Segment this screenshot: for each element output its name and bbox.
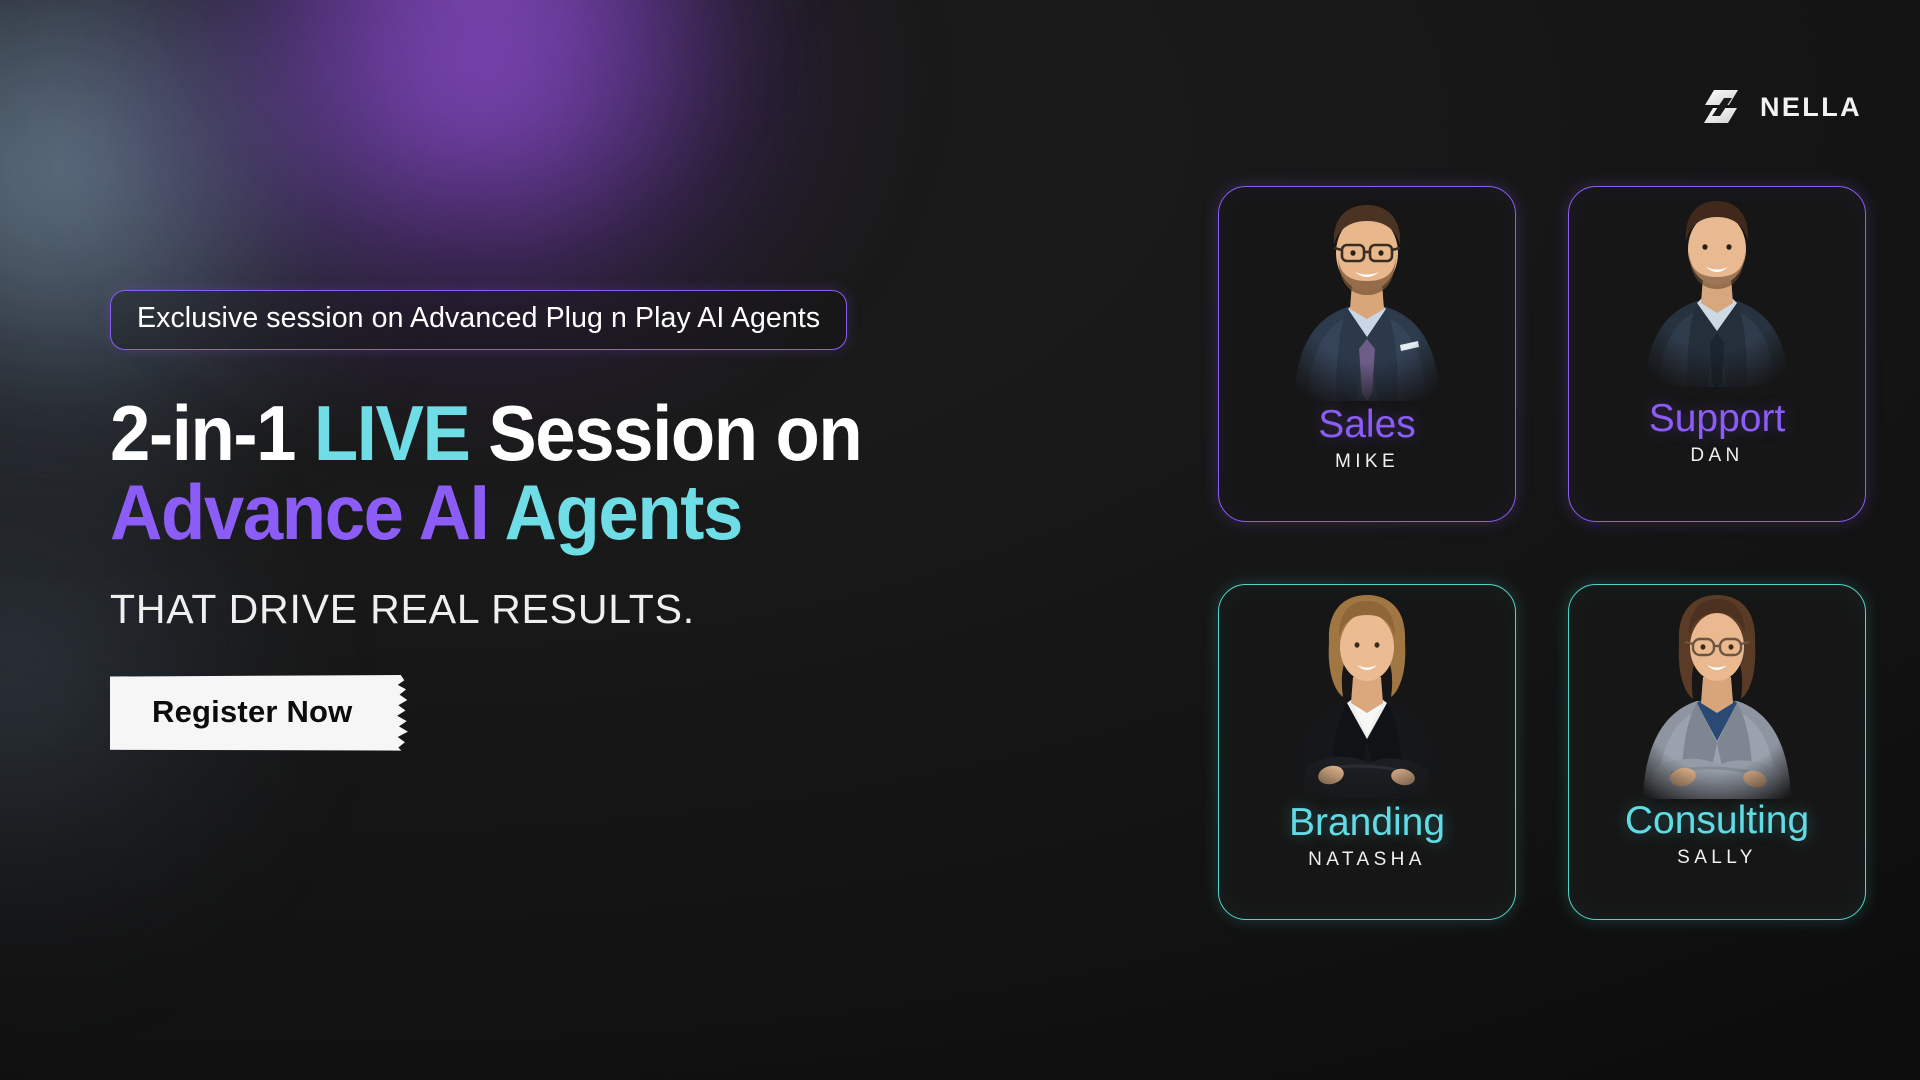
page-title: 2-in-1 LIVE Session on Advance AI Agents [110,394,1003,553]
hero-banner: NELLA Exclusive session on Advanced Plug… [0,0,1920,1080]
nella-bolt-icon [1698,84,1744,130]
headline-text-agents: Agents [488,468,742,556]
agent-person: SALLY [1677,847,1757,869]
avatar [1569,585,1865,799]
headline-line-2: Advance AI Agents [110,473,1003,553]
headline-text-live: LIVE [314,389,470,477]
session-badge: Exclusive session on Advanced Plug n Pla… [110,290,847,350]
agent-role: Sales [1318,405,1416,444]
avatar [1569,187,1865,387]
agent-card-branding[interactable]: Branding NATASHA [1218,584,1516,920]
agent-role: Consulting [1625,801,1809,840]
agent-role: Branding [1289,803,1445,842]
headline-text-session: Session on [470,389,862,477]
avatar-woman-black-blazer-icon [1269,585,1465,799]
headline-line-1: 2-in-1 LIVE Session on [110,394,1003,474]
brand-name: NELLA [1760,92,1862,123]
avatar [1219,187,1515,401]
headline-text-plain: 2-in-1 [110,389,314,477]
brand-logo[interactable]: NELLA [1698,84,1862,130]
cta-container: Register Now [110,675,1070,751]
agent-card-sales[interactable]: Sales MIKE [1218,186,1516,522]
avatar-man-glasses-suit-icon [1272,187,1462,401]
register-now-button[interactable]: Register Now [110,675,409,751]
agent-card-support[interactable]: Support DAN [1568,186,1866,522]
agent-person: DAN [1690,445,1743,467]
agent-card-consulting[interactable]: Consulting SALLY [1568,584,1866,920]
agent-card-grid: Sales MIKE [1218,186,1866,920]
headline-text-advance-ai: Advance AI [110,468,488,556]
background-glow-purple-core [210,0,770,200]
avatar [1219,585,1515,799]
agent-role: Support [1649,399,1786,438]
agent-person: MIKE [1335,451,1399,473]
hero-content: Exclusive session on Advanced Plug n Pla… [110,290,1070,751]
avatar-man-suit-tie-icon [1627,187,1807,387]
agent-person: NATASHA [1308,849,1426,871]
page-subtitle: THAT DRIVE REAL RESULTS. [110,586,1070,633]
avatar-woman-glasses-grey-blazer-icon [1617,585,1817,799]
